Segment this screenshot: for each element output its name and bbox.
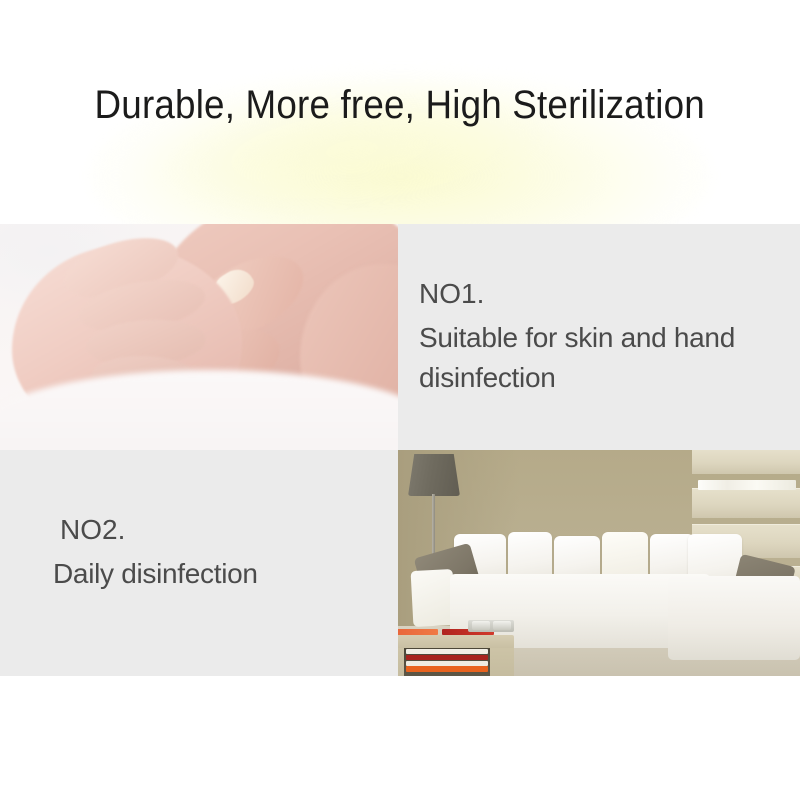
baby-hand-photo: [0, 224, 398, 450]
coffee-table-top: [398, 635, 514, 648]
table-tray-item-1: [472, 621, 490, 630]
feature-no2-panel: NO2. Daily disinfection: [0, 450, 398, 676]
feature-no1-label: NO1.: [419, 274, 735, 314]
feature-no1-text: NO1. Suitable for skin and hand disinfec…: [419, 274, 735, 398]
sofa-chaise: [668, 576, 800, 660]
feature-no1-line2: disinfection: [419, 358, 735, 398]
table-tray-item-2: [493, 621, 511, 630]
feature-no2-text: NO2. Daily disinfection: [53, 510, 258, 594]
shelf-books: [698, 480, 796, 490]
promo-banner: Durable, More free, High Sterilization N…: [0, 0, 800, 800]
feature-grid: NO1. Suitable for skin and hand disinfec…: [0, 224, 800, 676]
table-book-4: [406, 655, 488, 660]
floor-lamp-shade: [408, 454, 460, 496]
living-room-photo: [398, 450, 800, 676]
table-book-3: [406, 649, 488, 654]
sofa-armrest: [411, 569, 456, 627]
wall-shelf-2: [692, 488, 800, 518]
feature-no2-label: NO2.: [60, 510, 258, 550]
feature-no2-line1: Daily disinfection: [53, 554, 258, 594]
feature-no1-panel: NO1. Suitable for skin and hand disinfec…: [398, 224, 800, 450]
header: Durable, More free, High Sterilization: [0, 0, 800, 224]
table-book-1: [398, 629, 438, 635]
page-title: Durable, More free, High Sterilization: [95, 82, 705, 128]
table-book-6: [406, 666, 488, 672]
feature-no1-line1: Suitable for skin and hand: [419, 318, 735, 358]
wall-shelf-1: [692, 450, 800, 474]
